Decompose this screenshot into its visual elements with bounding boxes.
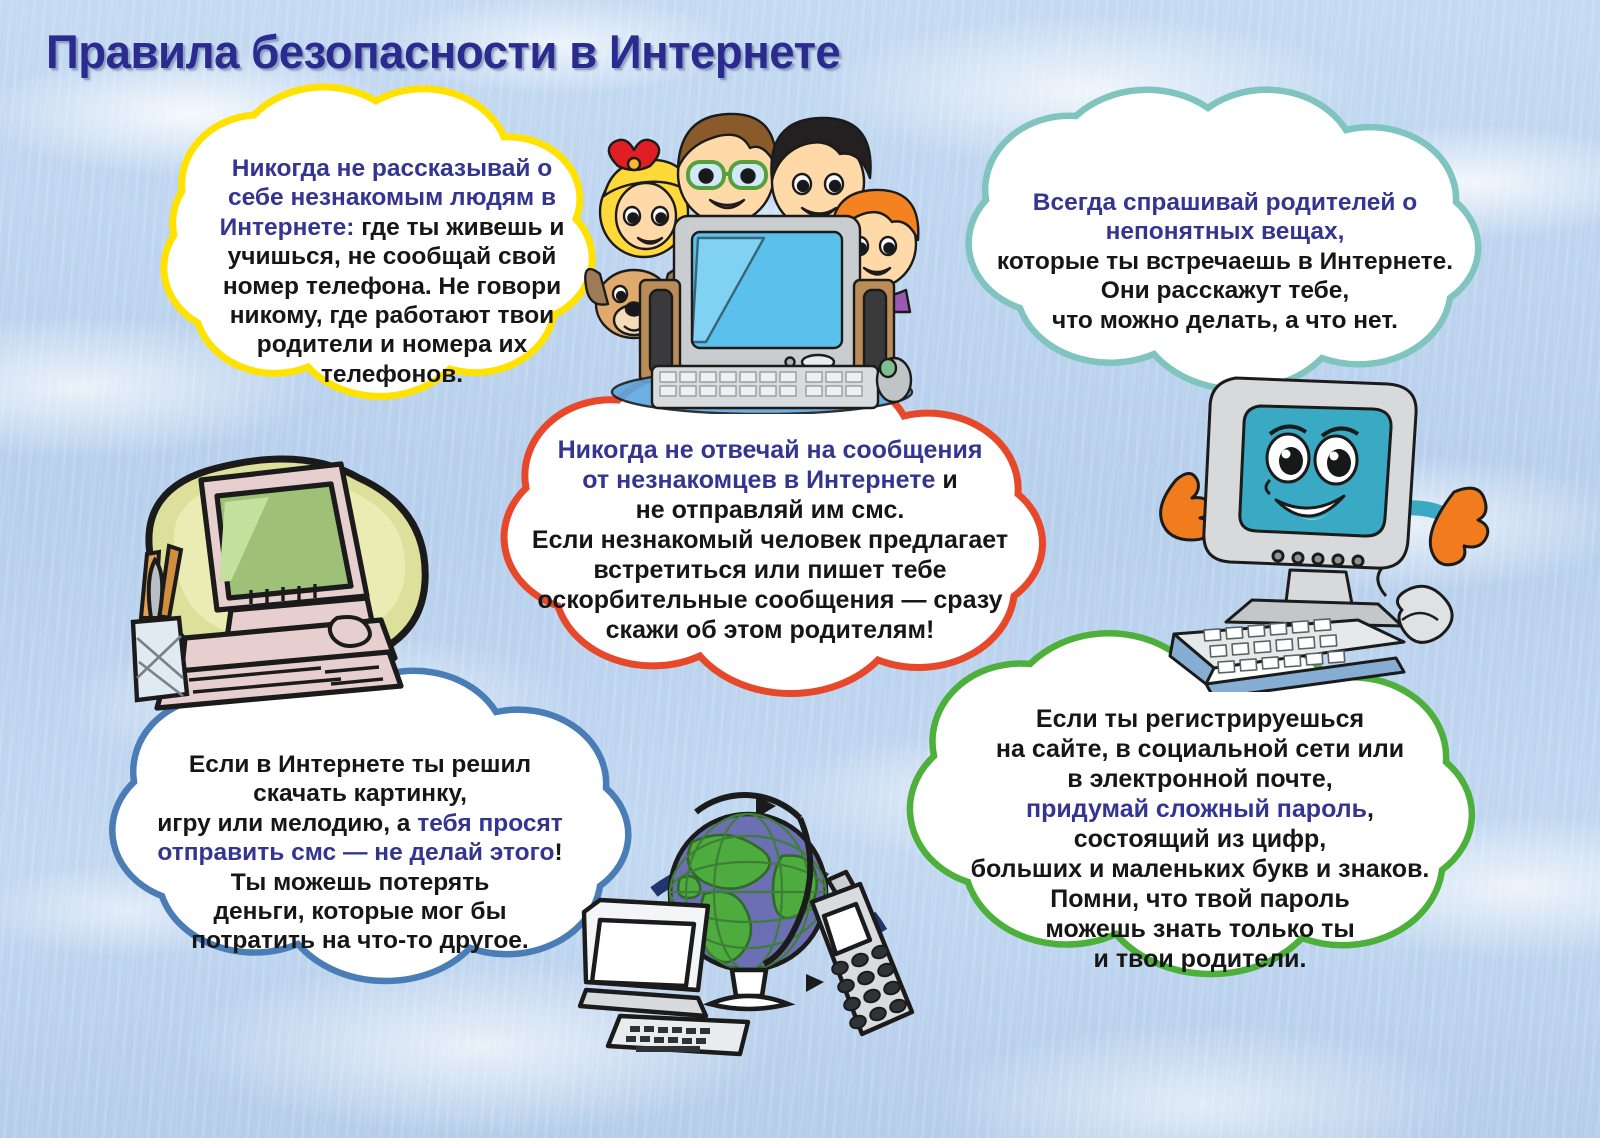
bubble-text-line: состоящий из цифр,: [920, 824, 1480, 854]
bubble-text-line: больших и маленьких букв и знаков.: [920, 854, 1480, 884]
bubble-text-line: номер телефона. Не говори: [192, 272, 592, 301]
mascot-keyboard: [1170, 619, 1404, 692]
bubble-text-line: скажи об этом родителям!: [480, 615, 1060, 645]
child-boy-glasses: [678, 114, 776, 224]
bubble-teal-text: Всегда спрашивай родителей онепонятных в…: [955, 188, 1495, 335]
bubble-text-line: что можно делать, а что нет.: [955, 306, 1495, 335]
smiling-computer-illustration: [1140, 352, 1495, 692]
bubble-red-text: Никогда не отвечай на сообщенияот незнак…: [480, 435, 1060, 645]
bubble-text-line: игру или мелодию, а тебя просят: [100, 809, 620, 838]
page-title: Правила безопасности в Интернете: [46, 24, 840, 79]
desktop-computer-illustration: [105, 440, 455, 730]
bubble-text-line: Интернете: где ты живешь и: [192, 213, 592, 242]
globe-computer-phone-illustration: [560, 760, 930, 1060]
bubble-text-line: потратить на что-то другое.: [100, 926, 620, 955]
bubble-text-line: можешь знать только ты: [920, 914, 1480, 944]
bubble-text-line: родители и номера их: [192, 330, 592, 359]
bubble-text-line: придумай сложный пароль,: [920, 794, 1480, 824]
bubble-text-line: Если в Интернете ты решил: [100, 750, 620, 779]
kids-at-computer-illustration: [566, 104, 936, 414]
bubble-text-line: оскорбительные сообщения — сразу: [480, 585, 1060, 615]
bubble-blue-text: Если в Интернете ты решилскачать картинк…: [100, 750, 620, 956]
bubble-text-line: Ты можешь потерять: [100, 868, 620, 897]
poster-canvas: Правила безопасности в Интернете Никогда…: [0, 0, 1600, 1138]
bubble-green-text: Если ты регистрируешьсяна сайте, в социа…: [920, 704, 1480, 974]
monitor-neck: [1286, 570, 1352, 604]
bubble-text-line: не отправляй им смс.: [480, 495, 1060, 525]
hair-bow: [609, 140, 659, 170]
mascot-mouse: [1378, 568, 1452, 642]
bubble-text-line: учишься, не сообщай свой: [192, 242, 592, 271]
bubble-text-line: которые ты встречаешь в Интернете.: [955, 247, 1495, 276]
bubble-text-line: Никогда не отвечай на сообщения: [480, 435, 1060, 465]
mascot-monitor: [1204, 378, 1416, 626]
bubble-text-line: Всегда спрашивай родителей о: [955, 188, 1495, 217]
bubble-text-line: отправить смс — не делай этого!: [100, 838, 620, 867]
keyboard: [652, 366, 878, 408]
bubble-text-line: непонятных вещах,: [955, 217, 1495, 246]
hand-right: [1430, 488, 1487, 565]
bubble-text-line: деньги, которые мог бы: [100, 897, 620, 926]
bubble-text-line: Если незнакомый человек предлагает: [480, 525, 1060, 555]
orbit-arrow-bottom: [806, 974, 824, 992]
bubble-red: Никогда не отвечай на сообщенияот незнак…: [430, 360, 1110, 740]
bubble-text-line: от незнакомцев в Интернете и: [480, 465, 1060, 495]
bubble-text-line: Помни, что твой пароль: [920, 884, 1480, 914]
bubble-text-line: никому, где работают твои: [192, 301, 592, 330]
bubble-text-line: встретиться или пишет тебе: [480, 555, 1060, 585]
bubble-text-line: скачать картинку,: [100, 779, 620, 808]
bubble-text-line: и твои родители.: [920, 944, 1480, 974]
bubble-text-line: себе незнакомым людям в: [192, 183, 592, 212]
bubble-text-line: Они расскажут тебе,: [955, 276, 1495, 305]
bubble-text-line: в электронной почте,: [920, 764, 1480, 794]
pencil-cup: [133, 546, 187, 700]
mobile-phone: [812, 872, 912, 1034]
bubble-yellow-text: Никогда не рассказывай осебе незнакомым …: [192, 154, 592, 389]
bubble-text-line: Никогда не рассказывай о: [192, 154, 592, 183]
